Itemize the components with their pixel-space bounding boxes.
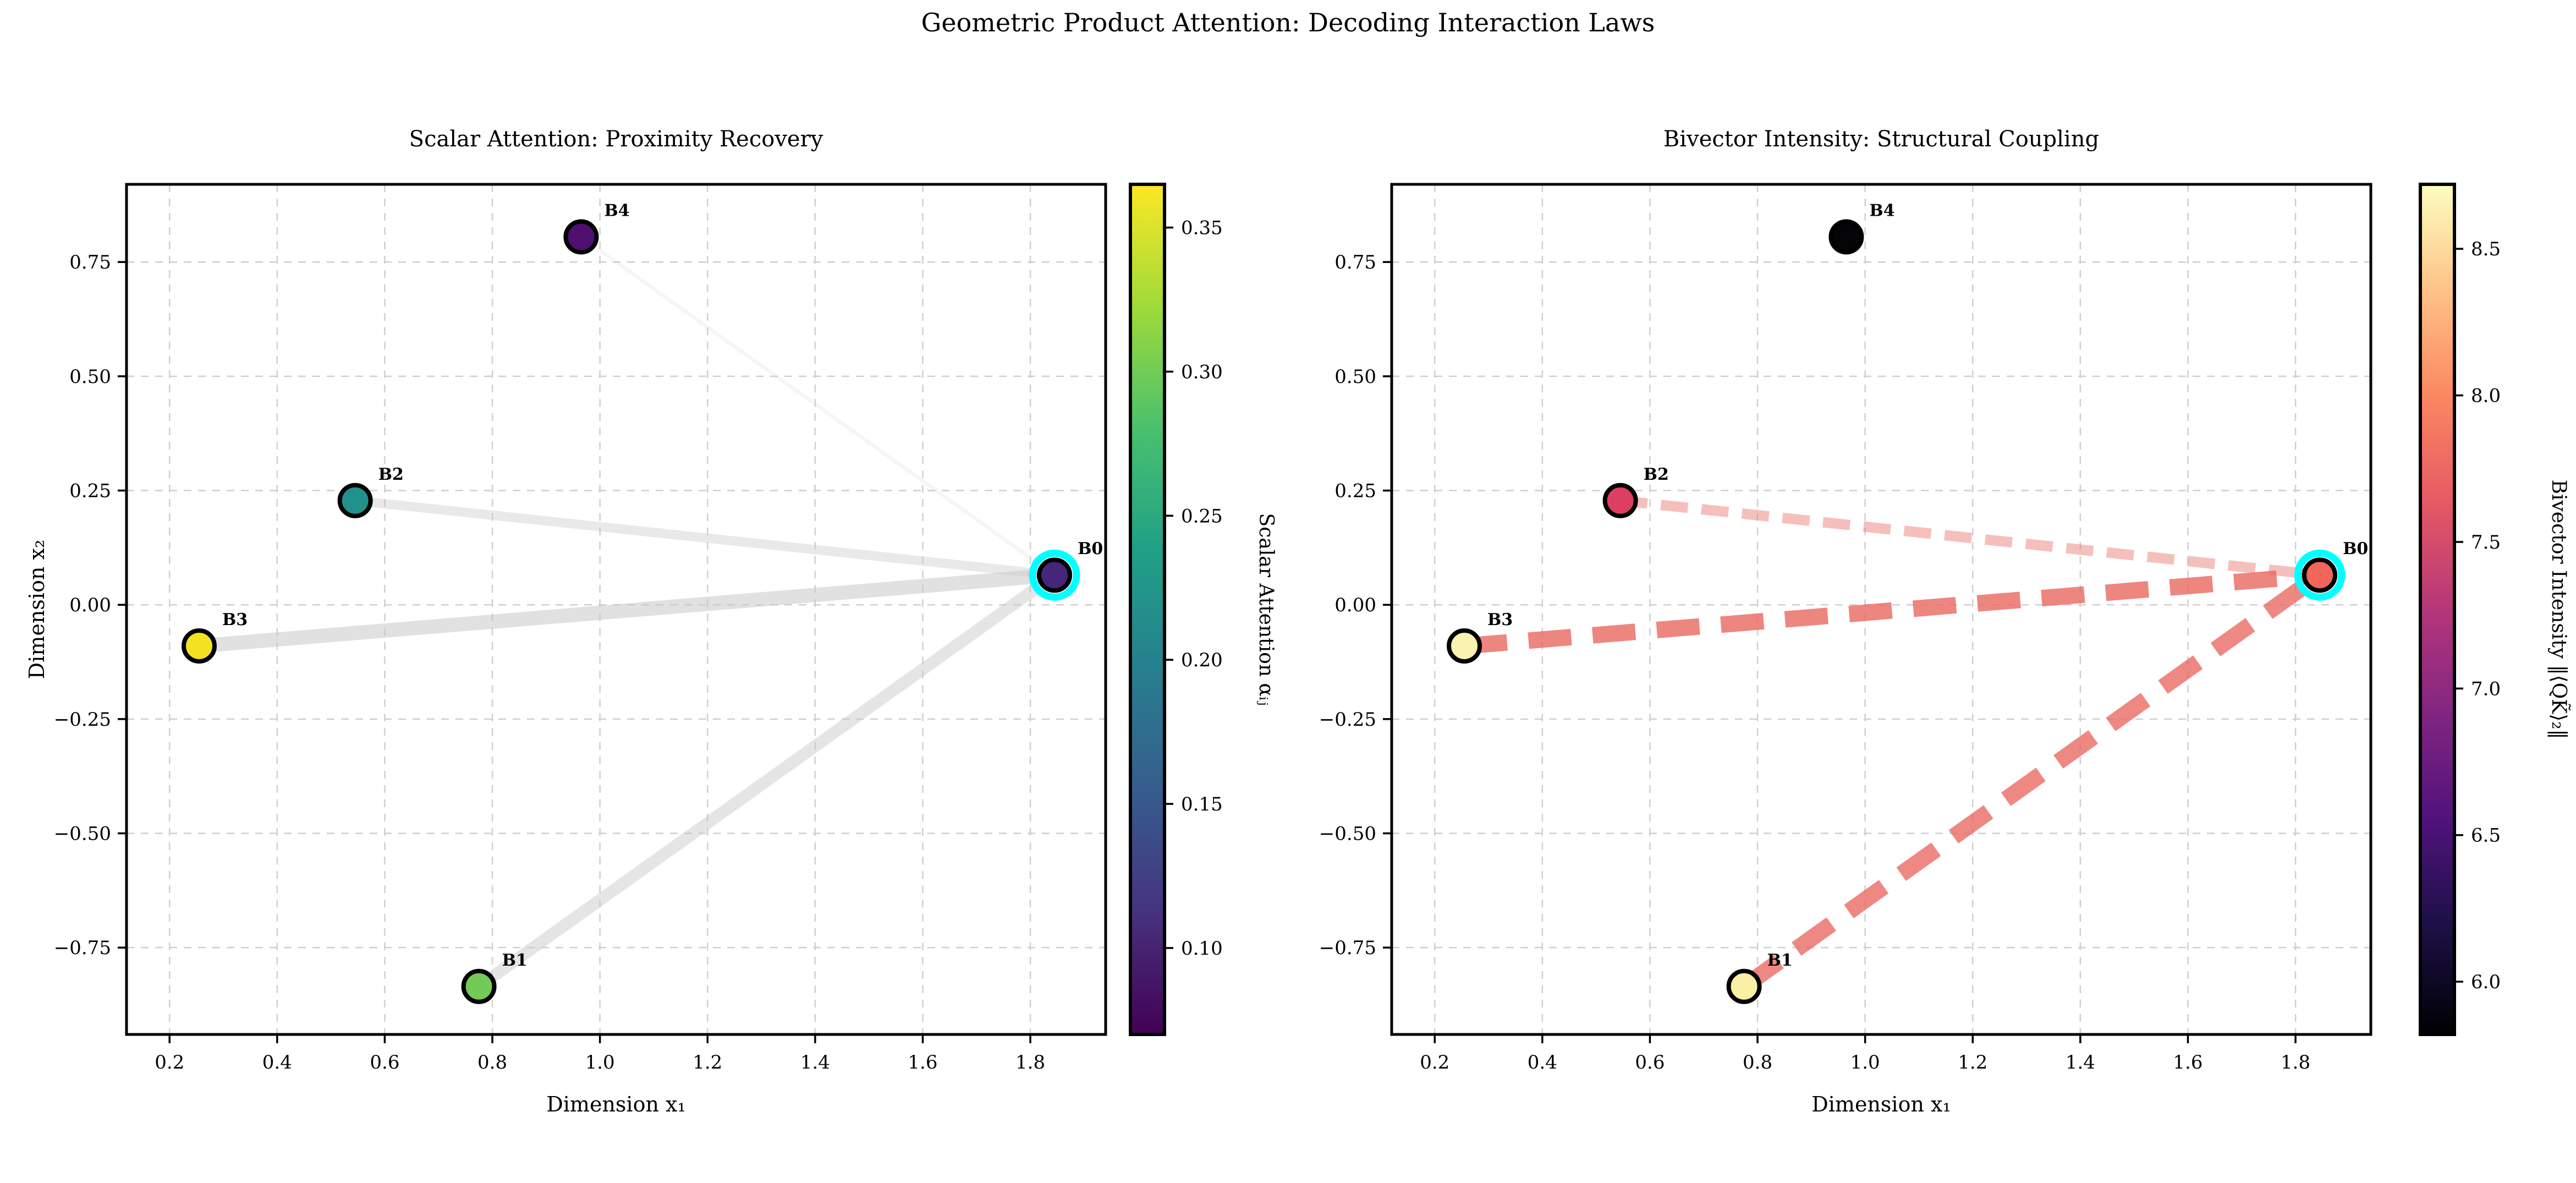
colorbar-tick-label: 6.0 bbox=[2471, 971, 2501, 993]
colorbar-label-1: Bivector Intensity ‖⟨QK̃⟩₂‖ bbox=[2547, 479, 2570, 739]
ytick-label: 0.75 bbox=[69, 251, 111, 273]
xtick-label: 0.6 bbox=[370, 1051, 399, 1074]
x-axis-label: Dimension x₁ bbox=[546, 1092, 685, 1116]
colorbar-tick-label: 0.30 bbox=[1181, 361, 1223, 383]
node-B0[interactable] bbox=[2304, 560, 2335, 590]
colorbar-tick-label: 6.5 bbox=[2471, 825, 2501, 847]
xtick-label: 0.2 bbox=[1420, 1051, 1449, 1074]
panel-plot-0: B0B1B2B3B40.20.40.60.81.01.21.41.61.80.7… bbox=[0, 0, 2576, 1183]
y-axis-label: Dimension x₂ bbox=[25, 540, 49, 679]
node-label-B3: B3 bbox=[222, 610, 248, 629]
xtick-label: 0.8 bbox=[1743, 1051, 1772, 1074]
xtick-label: 0.4 bbox=[262, 1051, 292, 1074]
colorbar-tick-label: 0.35 bbox=[1181, 217, 1223, 239]
node-B1[interactable] bbox=[464, 971, 495, 1002]
x-axis-label: Dimension x₁ bbox=[1811, 1092, 1951, 1116]
ytick-label: 0.00 bbox=[1334, 594, 1376, 616]
node-B3[interactable] bbox=[184, 631, 215, 661]
panel-title-0: Scalar Attention: Proximity Recovery bbox=[127, 127, 1106, 152]
ytick-label: 0.75 bbox=[1334, 251, 1376, 273]
edge-B4-B0 bbox=[581, 237, 1054, 576]
xtick-label: 0.2 bbox=[155, 1051, 184, 1074]
xtick-label: 1.0 bbox=[585, 1051, 615, 1074]
ytick-label: 0.25 bbox=[1334, 480, 1376, 502]
node-label-B4: B4 bbox=[1869, 201, 1894, 221]
colorbar-tick-label: 0.10 bbox=[1181, 938, 1223, 960]
edge-B1-B0 bbox=[479, 575, 1054, 987]
xtick-label: 1.6 bbox=[908, 1051, 937, 1074]
ytick-label: 0.00 bbox=[69, 594, 111, 616]
xtick-label: 0.6 bbox=[1635, 1051, 1665, 1074]
node-label-B4: B4 bbox=[604, 201, 629, 221]
ytick-label: −0.25 bbox=[54, 709, 111, 731]
node-label-B2: B2 bbox=[378, 465, 404, 484]
colorbar-1 bbox=[2420, 184, 2454, 1034]
colorbar-0 bbox=[1130, 184, 1165, 1034]
colorbar-tick-label: 7.5 bbox=[2471, 532, 2501, 554]
colorbar-tick-label: 8.5 bbox=[2471, 238, 2501, 260]
node-B3[interactable] bbox=[1449, 631, 1480, 661]
ytick-label: 0.25 bbox=[69, 480, 111, 502]
node-B2[interactable] bbox=[340, 485, 371, 516]
xtick-label: 1.2 bbox=[693, 1051, 722, 1074]
node-label-B2: B2 bbox=[1644, 465, 1669, 484]
edge-B1-B0 bbox=[1744, 575, 2320, 987]
colorbar-tick-label: 0.25 bbox=[1181, 505, 1223, 527]
node-B4[interactable] bbox=[565, 222, 596, 253]
edge-B3-B0 bbox=[1464, 575, 2320, 646]
colorbar-tick-label: 0.20 bbox=[1181, 649, 1223, 671]
node-highlight-ring-B0 bbox=[1032, 553, 1076, 597]
panel-title-1: Bivector Intensity: Structural Coupling bbox=[1392, 127, 2371, 152]
xtick-label: 1.8 bbox=[1015, 1051, 1045, 1074]
xtick-label: 1.2 bbox=[1958, 1051, 1987, 1074]
node-label-B0: B0 bbox=[1078, 539, 1103, 558]
node-B2[interactable] bbox=[1605, 485, 1636, 516]
xtick-label: 1.6 bbox=[2173, 1051, 2202, 1074]
ytick-label: −0.75 bbox=[54, 937, 111, 959]
panel-plot-1: B0B1B2B3B40.20.40.60.81.01.21.41.61.80.7… bbox=[0, 0, 2576, 1183]
xtick-label: 1.4 bbox=[800, 1051, 830, 1074]
colorbar-label-0: Scalar Attention αᵢⱼ bbox=[1255, 513, 1277, 705]
xtick-label: 1.0 bbox=[1850, 1051, 1880, 1074]
edge-B2-B0 bbox=[1621, 501, 2320, 575]
xtick-label: 1.8 bbox=[2281, 1051, 2310, 1074]
ytick-label: 0.50 bbox=[1334, 366, 1376, 388]
xtick-label: 0.8 bbox=[477, 1051, 507, 1074]
colorbar-tick-label: 7.0 bbox=[2471, 678, 2501, 700]
node-highlight-ring-B0 bbox=[2298, 553, 2342, 597]
xtick-label: 1.4 bbox=[2066, 1051, 2095, 1074]
node-B0[interactable] bbox=[1039, 560, 1070, 590]
node-label-B1: B1 bbox=[502, 951, 528, 970]
ytick-label: −0.50 bbox=[1319, 823, 1376, 845]
figure-canvas: Geometric Product Attention: Decoding In… bbox=[0, 0, 2576, 1183]
ytick-label: −0.75 bbox=[1319, 937, 1376, 959]
colorbar-tick-label: 0.15 bbox=[1181, 793, 1223, 815]
edge-B2-B0 bbox=[355, 501, 1054, 575]
node-B1[interactable] bbox=[1729, 971, 1760, 1002]
node-B4[interactable] bbox=[1831, 222, 1861, 253]
xtick-label: 0.4 bbox=[1528, 1051, 1557, 1074]
node-label-B1: B1 bbox=[1767, 951, 1793, 970]
ytick-label: 0.50 bbox=[69, 366, 111, 388]
node-label-B0: B0 bbox=[2343, 539, 2368, 558]
figure-suptitle: Geometric Product Attention: Decoding In… bbox=[0, 8, 2576, 37]
edge-B3-B0 bbox=[199, 575, 1054, 646]
ytick-label: −0.50 bbox=[54, 823, 111, 845]
colorbar-tick-label: 8.0 bbox=[2471, 385, 2501, 407]
ytick-label: −0.25 bbox=[1319, 709, 1376, 731]
node-label-B3: B3 bbox=[1487, 610, 1513, 629]
